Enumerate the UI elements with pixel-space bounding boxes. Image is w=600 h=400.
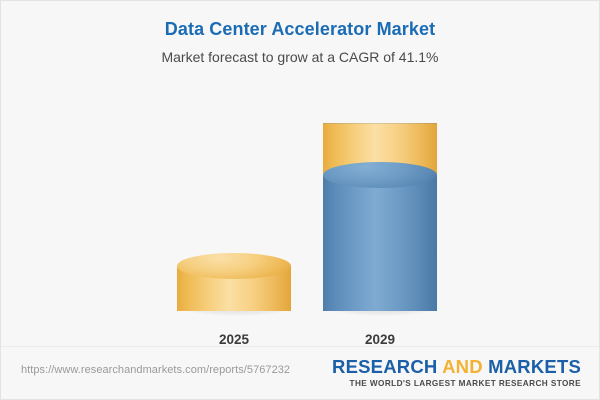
- chart-plot-area: USD 36.22 Billion 2025 USD 143.45 Billio…: [1, 79, 599, 347]
- logo-word-markets: MARKETS: [483, 356, 581, 377]
- logo-word-research: RESEARCH: [332, 356, 442, 377]
- logo-word-and: AND: [442, 356, 483, 377]
- chart-subtitle: Market forecast to grow at a CAGR of 41.…: [1, 48, 599, 66]
- bar-top-ellipse-2029: [323, 162, 437, 188]
- bar-segment-gold-2025: [177, 266, 291, 311]
- chart-header: Data Center Accelerator Market Market fo…: [1, 1, 599, 66]
- research-and-markets-logo[interactable]: RESEARCH AND MARKETS THE WORLD'S LARGEST…: [332, 356, 581, 388]
- page-title: Data Center Accelerator Market: [1, 18, 599, 40]
- bar-top-ellipse-2025: [177, 253, 291, 279]
- source-url-link[interactable]: https://www.researchandmarkets.com/repor…: [21, 364, 290, 376]
- footer-bar: https://www.researchandmarkets.com/repor…: [1, 346, 599, 399]
- bar-segment-seam: [323, 123, 437, 124]
- bar-segment-blue-2029: [323, 175, 437, 311]
- logo-wordmark: RESEARCH AND MARKETS: [332, 356, 581, 377]
- market-infographic-card: Data Center Accelerator Market Market fo…: [0, 0, 600, 400]
- bar-cylinder-2029: [323, 123, 437, 311]
- bar-segment-body: [323, 175, 437, 311]
- logo-tagline: THE WORLD'S LARGEST MARKET RESEARCH STOR…: [332, 379, 581, 388]
- bar-cylinder-2025: [177, 266, 291, 311]
- axis-category-label-2029: 2029: [285, 332, 475, 347]
